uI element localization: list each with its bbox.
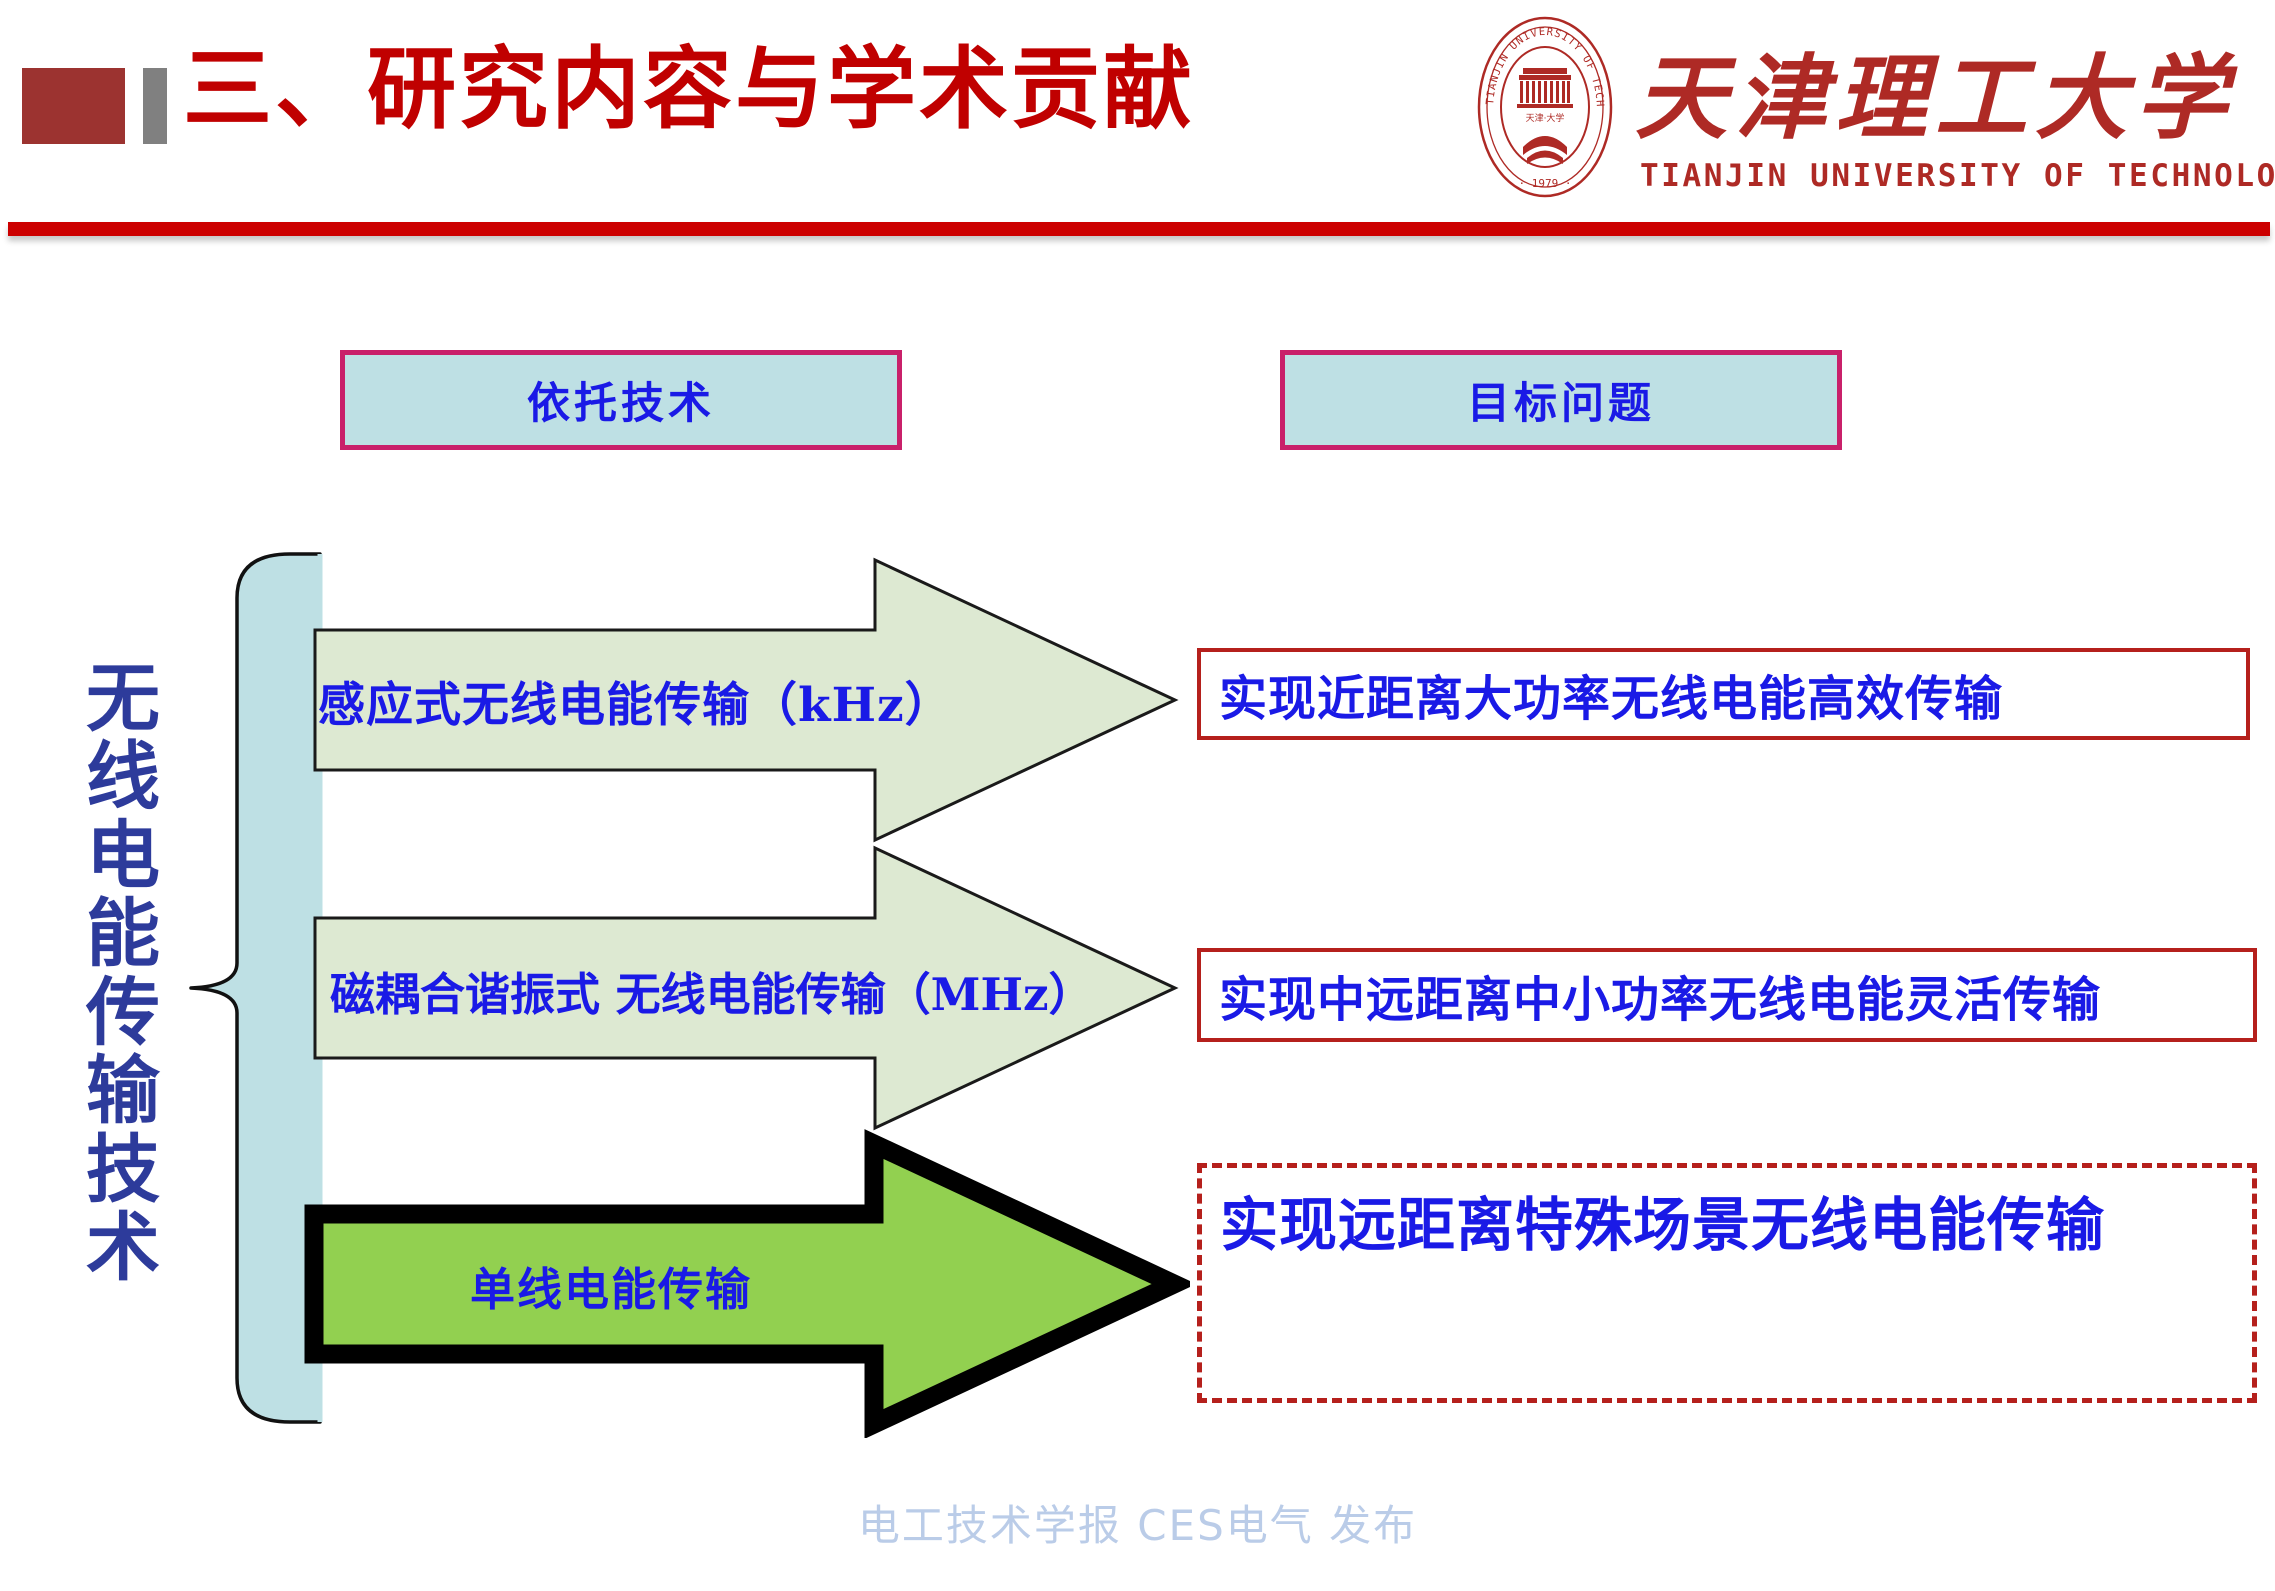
vertical-label-char: 无 (68, 660, 178, 738)
vertical-label-char: 输 (68, 1052, 178, 1130)
header-divider (8, 222, 2270, 236)
page-title: 三、研究内容与学术贡献 (183, 38, 1195, 140)
svg-text:· 1979 ·: · 1979 · (1519, 177, 1572, 190)
arrow-inductive-label: 感应式无线电能传输（kHz） (318, 650, 1078, 750)
footer-attribution: 电工技术学报 CES电气 发布 (0, 1492, 2275, 1553)
university-name-cn: 天津理工大学 (1635, 24, 2235, 157)
arrow-single-wire-label: 单线电能传输 (470, 1240, 990, 1330)
title-marker-square-icon (22, 68, 125, 144)
result-mid-range-box: 实现中远距离中小功率无线电能灵活传输 (1197, 948, 2257, 1042)
vertical-category-label: 无 线 电 能 传 输 技 术 (68, 660, 178, 1288)
vertical-label-char: 能 (68, 895, 178, 973)
result-long-range-box: 实现远距离特殊场景无线电能传输 (1197, 1163, 2257, 1403)
university-seal-icon: 天津·大学 · 1979 · TIANJIN UNIVERSITY OF TEC… (1475, 15, 1615, 200)
vertical-label-char: 电 (68, 817, 178, 895)
vertical-label-char: 术 (68, 1209, 178, 1287)
column-header-goal: 目标问题 (1280, 350, 1842, 450)
title-marker-bar-icon (143, 68, 167, 144)
university-logo: 天津·大学 · 1979 · TIANJIN UNIVERSITY OF TEC… (1450, 10, 2260, 210)
result-near-field-box: 实现近距离大功率无线电能高效传输 (1197, 648, 2250, 740)
vertical-label-char: 技 (68, 1131, 178, 1209)
arrow-resonant-label: 磁耦合谐振式 无线电能传输（MHz） (330, 940, 1150, 1040)
svg-text:天津·大学: 天津·大学 (1526, 112, 1565, 124)
vertical-label-char: 传 (68, 974, 178, 1052)
vertical-label-char: 线 (68, 738, 178, 816)
column-header-technology: 依托技术 (340, 350, 902, 450)
slide-header: 三、研究内容与学术贡献 天津·大学 · 1979 · (0, 0, 2275, 250)
university-name-en: TIANJIN UNIVERSITY OF TECHNOLOGY (1640, 158, 2275, 194)
